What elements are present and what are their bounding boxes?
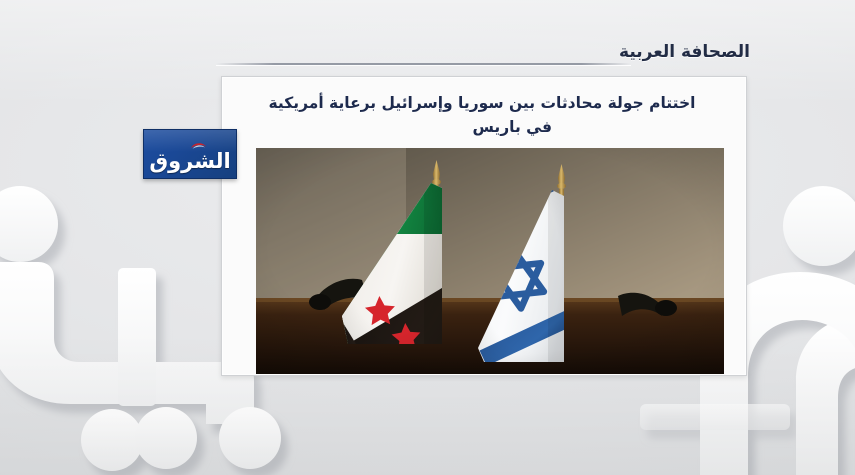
broadcast-screen: الصحافة العربية اختتام جولة محادثات بين … xyxy=(0,0,855,475)
headline-line-1: اختتام جولة محادثات بين سوريا وإسرائيل ب… xyxy=(252,91,712,115)
logo-swoosh-icon xyxy=(190,135,207,144)
news-photo xyxy=(256,148,724,374)
section-title: الصحافة العربية xyxy=(619,42,750,62)
news-card: اختتام جولة محادثات بين سوريا وإسرائيل ب… xyxy=(221,76,747,376)
channel-logo-text: الشروق xyxy=(144,151,236,172)
channel-logo: الشروق xyxy=(143,129,237,179)
headline: اختتام جولة محادثات بين سوريا وإسرائيل ب… xyxy=(252,91,712,139)
headline-line-2: في باريس xyxy=(252,115,712,139)
header-divider-highlight xyxy=(216,65,631,66)
